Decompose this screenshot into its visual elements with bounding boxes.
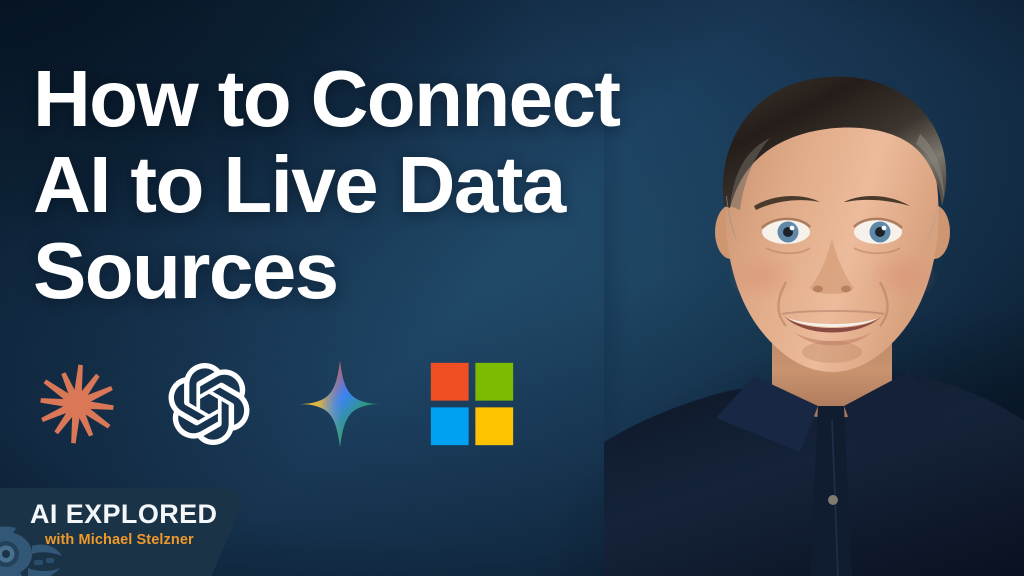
page-title: How to Connect AI to Live Data Sources — [33, 56, 733, 314]
title-line-3: Sources — [33, 228, 733, 314]
title-line-1: How to Connect — [33, 56, 733, 142]
show-name: AI EXPLORED — [30, 499, 240, 529]
host-name: with Michael Stelzner — [45, 531, 240, 550]
claude-starburst-icon — [30, 357, 124, 451]
brand-badge-text: AI EXPLORED with Michael Stelzner — [30, 499, 240, 550]
microsoft-squares-icon — [430, 362, 514, 446]
microsoft-logo — [430, 356, 514, 452]
video-thumbnail: How to Connect AI to Live Data Sources — [0, 0, 1024, 576]
openai-logo — [168, 356, 250, 452]
title-line-2: AI to Live Data — [33, 142, 733, 228]
brand-badge: AI EXPLORED with Michael Stelzner — [0, 488, 248, 576]
ai-platform-logo-row — [30, 352, 514, 456]
gemini-sparkle-icon — [294, 358, 386, 450]
openai-knot-icon — [168, 363, 250, 445]
gemini-logo — [294, 356, 386, 452]
claude-logo — [30, 356, 124, 452]
